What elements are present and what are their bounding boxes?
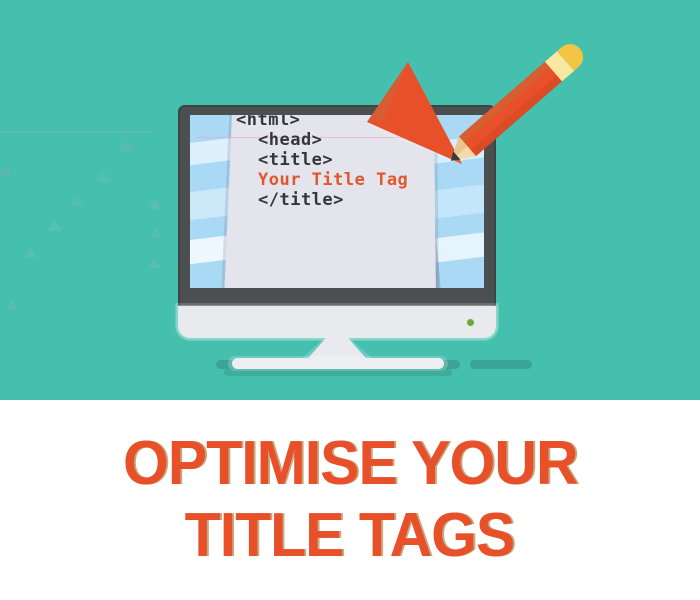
hero-panel: <html> <head> <title> Your Title Tag </t… [0,0,700,400]
artifact-speckle [118,138,136,152]
artifact-speckle [48,220,62,231]
monitor-chin [178,306,496,338]
code-line-title-text: Your Title Tag [236,170,408,190]
artifact-speckle [150,228,162,238]
headline-line-2: TITLE TAGS [185,500,515,572]
artifact-speckle [0,165,12,175]
floor-dash-accent [470,360,532,369]
artifact-speckle [95,170,111,182]
pencil-icon [430,40,600,170]
code-line-html-open: <html> [236,115,300,130]
artifact-speckle [0,131,150,133]
power-led-icon [467,319,474,326]
code-line-title-close: </title> [236,190,344,210]
code-line-head-open: <head> [236,130,322,150]
code-line-title-open: <title> [236,150,333,170]
artifact-speckle [148,258,160,268]
poster-root: <html> <head> <title> Your Title Tag </t… [0,0,700,600]
artifact-speckle [25,248,37,258]
artifact-speckle [6,300,18,309]
caption-panel: OPTIMISE YOUR TITLE TAGS [0,400,700,600]
artifact-speckle [70,195,84,206]
monitor-base [232,358,444,369]
artifact-speckle [148,198,162,209]
headline-line-1: OPTIMISE YOUR [123,428,578,500]
